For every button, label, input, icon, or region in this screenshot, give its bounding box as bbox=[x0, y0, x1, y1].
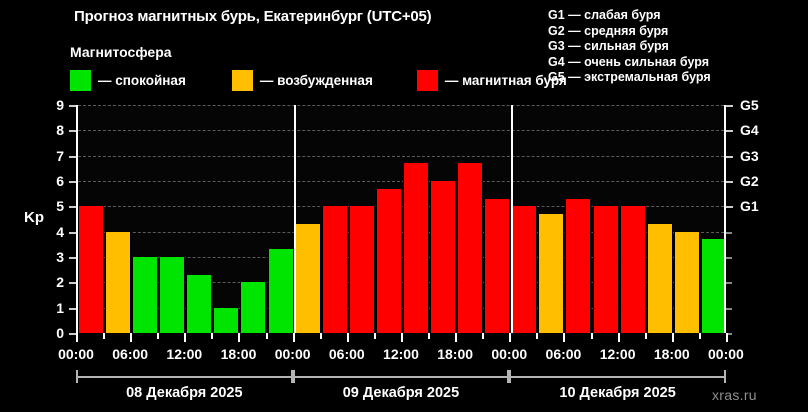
y-axis-tick-mark bbox=[69, 181, 76, 183]
magnetosphere-legend-label: — спокойная bbox=[98, 73, 186, 88]
x-axis-time-label: 00:00 bbox=[491, 346, 527, 362]
g-axis-tick-label: G2 bbox=[740, 173, 759, 189]
y-axis-tick-label: 7 bbox=[42, 148, 64, 164]
y-axis-tick-label: 6 bbox=[42, 173, 64, 189]
g-axis-tick-label: G4 bbox=[740, 122, 759, 138]
x-axis-tick bbox=[238, 333, 240, 342]
magnetosphere-legend: — спокойная— возбужденная— магнитная бур… bbox=[70, 69, 567, 91]
kp-bar bbox=[105, 232, 131, 333]
g-axis-tick-mark bbox=[726, 206, 733, 208]
y-axis-tick-mark bbox=[69, 130, 76, 132]
kp-bar bbox=[213, 308, 239, 333]
x-axis-tick bbox=[76, 333, 78, 342]
kp-bar bbox=[78, 206, 104, 333]
g-axis-minor-tick bbox=[726, 308, 732, 310]
x-axis-tick bbox=[184, 333, 186, 342]
x-axis-tick bbox=[563, 333, 565, 342]
g-axis-tick-mark bbox=[726, 105, 733, 107]
kp-bar bbox=[295, 224, 321, 333]
x-axis-tick bbox=[130, 333, 132, 342]
y-axis-tick-mark bbox=[69, 206, 76, 208]
x-axis-tick bbox=[509, 333, 511, 342]
kp-bar bbox=[538, 214, 564, 333]
kp-bar bbox=[132, 257, 158, 333]
x-axis-time-label: 00:00 bbox=[708, 346, 744, 362]
y-axis-tick-mark bbox=[69, 333, 76, 335]
kp-bar bbox=[403, 163, 429, 333]
kp-bar bbox=[593, 206, 619, 333]
x-axis-time-label: 12:00 bbox=[600, 346, 636, 362]
x-axis-time-label: 06:00 bbox=[112, 346, 148, 362]
red-square-icon bbox=[417, 70, 438, 91]
day-band bbox=[293, 370, 510, 382]
day-band-line bbox=[509, 376, 726, 378]
x-axis-tick bbox=[320, 333, 322, 339]
g-scale-legend-line: G4 — очень сильная буря bbox=[548, 55, 711, 71]
magnetosphere-legend-item: — возбужденная bbox=[232, 70, 373, 91]
g-axis-minor-tick bbox=[726, 282, 732, 284]
magnetosphere-legend-item: — магнитная буря bbox=[417, 70, 567, 91]
x-axis-tick bbox=[618, 333, 620, 342]
x-axis-tick bbox=[455, 333, 457, 342]
g-scale-legend-line: G3 — сильная буря bbox=[548, 39, 711, 55]
kp-bar bbox=[430, 181, 456, 333]
y-axis-tick-mark bbox=[69, 308, 76, 310]
y-axis-tick-label: 0 bbox=[42, 325, 64, 341]
x-axis-tick bbox=[347, 333, 349, 342]
plot-area bbox=[76, 105, 726, 333]
kp-bar bbox=[647, 224, 673, 333]
y-axis-tick-label: 9 bbox=[42, 97, 64, 113]
g-axis-minor-tick bbox=[726, 257, 732, 259]
y-axis-tick-mark bbox=[69, 105, 76, 107]
x-axis-tick bbox=[428, 333, 430, 339]
kp-bar bbox=[674, 232, 700, 333]
day-label: 09 Декабря 2025 bbox=[343, 385, 459, 401]
x-axis-ticks bbox=[76, 333, 726, 345]
x-axis-tick bbox=[699, 333, 701, 339]
kp-bar bbox=[159, 257, 185, 333]
g-axis-tick-label: G5 bbox=[740, 97, 759, 113]
y-axis-tick-mark bbox=[69, 156, 76, 158]
y-axis-tick-mark bbox=[69, 282, 76, 284]
kp-bar bbox=[376, 189, 402, 333]
y-axis-tick-label: 3 bbox=[42, 249, 64, 265]
kp-bar bbox=[484, 199, 510, 333]
x-axis-tick bbox=[726, 333, 728, 342]
g-axis-minor-tick bbox=[726, 232, 732, 234]
g-scale-legend: G1 — слабая буряG2 — средняя буряG3 — си… bbox=[548, 8, 711, 86]
y-axis-tick-mark bbox=[69, 232, 76, 234]
x-axis-tick bbox=[645, 333, 647, 339]
day-band-line bbox=[293, 376, 510, 378]
g-scale-legend-line: G2 — средняя буря bbox=[548, 24, 711, 40]
kp-bar bbox=[565, 199, 591, 333]
kp-bar bbox=[349, 206, 375, 333]
day-band bbox=[76, 370, 293, 382]
kp-bar bbox=[240, 282, 266, 333]
orange-square-icon bbox=[232, 70, 253, 91]
day-label: 08 Декабря 2025 bbox=[126, 385, 242, 401]
magnetosphere-legend-label: — возбужденная bbox=[260, 73, 373, 88]
x-axis-time-label: 06:00 bbox=[329, 346, 365, 362]
x-axis-time-label: 00:00 bbox=[275, 346, 311, 362]
day-band-line bbox=[76, 376, 293, 378]
y-axis-right-g-scale: G1G2G3G4G5 bbox=[726, 105, 806, 333]
x-axis-tick bbox=[672, 333, 674, 342]
g-axis-tick-mark bbox=[726, 181, 733, 183]
kp-bar bbox=[268, 249, 294, 333]
y-axis-tick-label: 4 bbox=[42, 224, 64, 240]
y-axis-tick-label: 8 bbox=[42, 122, 64, 138]
x-axis-time-label: 06:00 bbox=[546, 346, 582, 362]
green-square-icon bbox=[70, 70, 91, 91]
day-label: 10 Декабря 2025 bbox=[559, 385, 675, 401]
x-axis-tick bbox=[211, 333, 213, 339]
x-axis-time-label: 12:00 bbox=[166, 346, 202, 362]
g-axis-tick-mark bbox=[726, 130, 733, 132]
page-title: Прогноз магнитных бурь, Екатеринбург (UT… bbox=[74, 8, 431, 25]
day-separator-line bbox=[511, 105, 513, 333]
x-axis-tick bbox=[482, 333, 484, 339]
x-axis-tick bbox=[536, 333, 538, 339]
magnetic-storm-forecast-chart: Прогноз магнитных бурь, Екатеринбург (UT… bbox=[0, 0, 808, 412]
magnetosphere-section-label: Магнитосфера bbox=[70, 44, 172, 60]
y-axis-left: 0123456789 bbox=[40, 105, 76, 333]
x-axis-time-label: 00:00 bbox=[58, 346, 94, 362]
g-axis-tick-label: G1 bbox=[740, 198, 759, 214]
x-axis-time-label: 18:00 bbox=[654, 346, 690, 362]
x-axis-tick bbox=[266, 333, 268, 339]
y-axis-tick-label: 1 bbox=[42, 300, 64, 316]
bar-series bbox=[78, 105, 724, 333]
g-scale-legend-line: G1 — слабая буря bbox=[548, 8, 711, 24]
kp-bar bbox=[322, 206, 348, 333]
g-axis-tick-label: G3 bbox=[740, 148, 759, 164]
kp-bar bbox=[457, 163, 483, 333]
x-axis-tick bbox=[374, 333, 376, 339]
kp-bar bbox=[186, 275, 212, 333]
kp-bar bbox=[620, 206, 646, 333]
kp-bar bbox=[511, 206, 537, 333]
day-band-cap-right bbox=[724, 370, 726, 383]
kp-bar bbox=[701, 239, 726, 333]
g-scale-legend-line: G5 — экстремальная буря bbox=[548, 70, 711, 86]
x-axis-tick bbox=[103, 333, 105, 339]
y-axis-tick-label: 5 bbox=[42, 198, 64, 214]
x-axis-tick bbox=[401, 333, 403, 342]
g-axis-tick-mark bbox=[726, 156, 733, 158]
y-axis-tick-mark bbox=[69, 257, 76, 259]
day-band bbox=[509, 370, 726, 382]
magnetosphere-legend-item: — спокойная bbox=[70, 70, 186, 91]
x-axis-time-label: 18:00 bbox=[221, 346, 257, 362]
day-separator-line bbox=[294, 105, 296, 333]
y-axis-tick-label: 2 bbox=[42, 274, 64, 290]
x-axis-tick bbox=[293, 333, 295, 342]
x-axis-tick bbox=[157, 333, 159, 339]
x-axis-tick bbox=[591, 333, 593, 339]
x-axis-time-label: 18:00 bbox=[437, 346, 473, 362]
watermark: xras.ru bbox=[712, 387, 757, 403]
x-axis-time-label: 12:00 bbox=[383, 346, 419, 362]
